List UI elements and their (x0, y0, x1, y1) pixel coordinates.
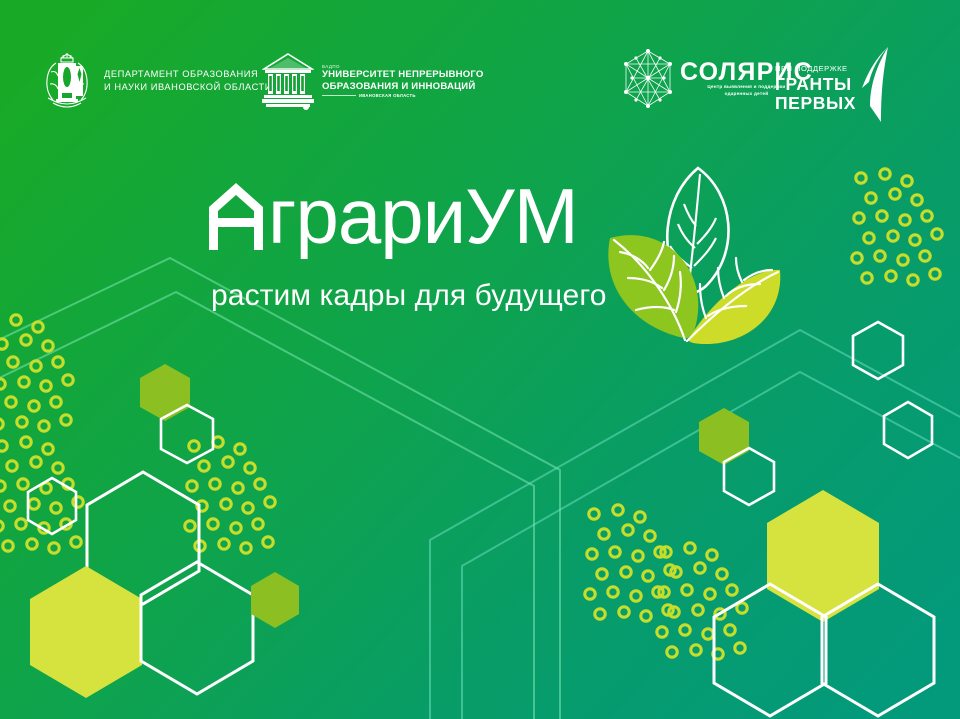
poster-canvas: ДЕПАРТАМЕНТ ОБРАЗОВАНИЯ И НАУКИ ИВАНОВСК… (0, 0, 960, 719)
tagline: растим кадры для будущего (211, 279, 607, 313)
solaris-network-icon (618, 48, 678, 110)
grants-arrow-icon (852, 46, 894, 124)
grants-line-1: ГРАНТЫ (775, 75, 856, 94)
grants-prefix: ПРИ ПОДДЕРЖКЕ (775, 64, 856, 73)
university-building-icon (262, 52, 314, 110)
brand-title-rest: грариУМ (268, 177, 578, 255)
logo-department: ДЕПАРТАМЕНТ ОБРАЗОВАНИЯ И НАУКИ ИВАНОВСК… (40, 50, 272, 112)
logo-bar: ДЕПАРТАМЕНТ ОБРАЗОВАНИЯ И НАУКИ ИВАНОВСК… (0, 0, 960, 135)
university-line-2: ОБРАЗОВАНИЯ И ИННОВАЦИЙ (322, 81, 484, 92)
three-leaves-icon (588, 160, 788, 350)
leaf-green (608, 235, 698, 338)
department-line-1: ДЕПАРТАМЕНТ ОБРАЗОВАНИЯ (104, 68, 272, 81)
title-block: грариУМ растим кадры для будущего (0, 176, 960, 268)
university-prefix: ВАДПО (322, 64, 484, 69)
logo-grants: ПРИ ПОДДЕРЖКЕ ГРАНТЫ ПЕРВЫХ (775, 52, 894, 124)
grants-line-2: ПЕРВЫХ (775, 94, 856, 113)
university-region: ИВАНОВСКАЯ ОБЛАСТЬ (359, 93, 416, 98)
department-line-2: И НАУКИ ИВАНОВСКОЙ ОБЛАСТИ (104, 81, 272, 94)
university-line-1: УНИВЕРСИТЕТ НЕПРЕРЫВНОГО (322, 69, 484, 80)
university-region-row: ИВАНОВСКАЯ ОБЛАСТЬ (322, 93, 484, 98)
logo-university: ВАДПО УНИВЕРСИТЕТ НЕПРЕРЫВНОГО ОБРАЗОВАН… (262, 52, 484, 110)
rule-divider (322, 95, 356, 96)
brand-title: грариУМ (205, 176, 578, 254)
ivanovo-oblast-coat-of-arms-icon (40, 50, 94, 112)
house-letter-a-icon (205, 178, 267, 254)
